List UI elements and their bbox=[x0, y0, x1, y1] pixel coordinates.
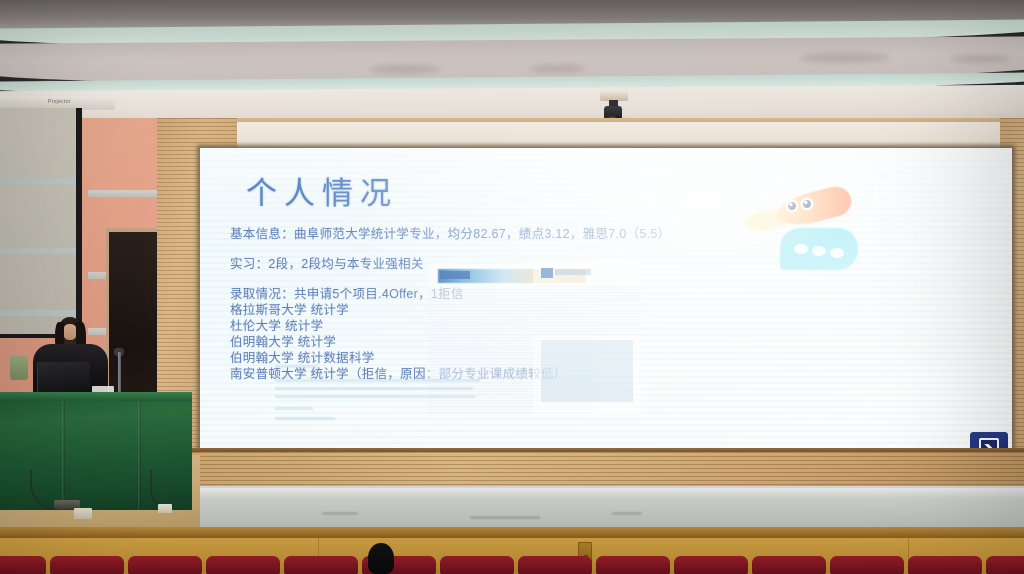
mascot-eye-icon bbox=[803, 200, 811, 208]
seat[interactable] bbox=[206, 556, 280, 574]
ceiling-stain bbox=[950, 55, 1010, 63]
presentation-slide[interactable]: 个人情况 基本信息：曲阜师范大学统计学专业，均分82.67，绩点3.12，雅思7… bbox=[200, 148, 1012, 456]
stage-floor-sheen bbox=[200, 488, 1024, 498]
secondary-projection-screen bbox=[0, 108, 76, 334]
cloth-fold bbox=[138, 401, 141, 510]
university-logo-icon bbox=[541, 268, 553, 278]
floor-box bbox=[74, 508, 92, 519]
audience-seat-row bbox=[0, 556, 1024, 574]
rocket-mascot-icon bbox=[773, 183, 854, 230]
slide-title: 个人情况 bbox=[246, 168, 398, 213]
email-line bbox=[275, 417, 335, 420]
seat[interactable] bbox=[674, 556, 748, 574]
presenter-face bbox=[63, 324, 77, 340]
stage-wall-wood-panel bbox=[150, 452, 1024, 488]
ceiling-stain bbox=[370, 65, 440, 74]
floor-box bbox=[158, 504, 172, 513]
seat[interactable] bbox=[440, 556, 514, 574]
document-banner-tag bbox=[440, 271, 470, 279]
ceiling-stain bbox=[800, 52, 890, 63]
bubble-dot-icon bbox=[830, 248, 844, 258]
email-line bbox=[275, 395, 475, 398]
slide-line-basic-info: 基本信息：曲阜师范大学统计学专业，均分82.67，绩点3.12，雅思7.0（5.… bbox=[230, 226, 700, 242]
wall-accent-band bbox=[88, 328, 108, 335]
screen-reflection bbox=[0, 178, 76, 184]
mascot-eye-icon bbox=[788, 202, 796, 210]
projector-case-label: Projector bbox=[48, 99, 71, 105]
audience-head-icon bbox=[368, 543, 394, 574]
seat[interactable] bbox=[752, 556, 826, 574]
seat[interactable] bbox=[284, 556, 358, 574]
slide-decoration bbox=[740, 184, 870, 279]
podium-table-top bbox=[0, 392, 192, 401]
email-text-screenshot bbox=[275, 363, 480, 421]
university-name-text bbox=[555, 269, 591, 275]
ceiling-stain bbox=[530, 65, 585, 73]
microphone-stand bbox=[118, 352, 121, 396]
seat[interactable] bbox=[596, 556, 670, 574]
bubble-dot-icon bbox=[812, 246, 826, 256]
floor-marking bbox=[612, 512, 642, 515]
seat[interactable] bbox=[518, 556, 592, 574]
floor-marking bbox=[322, 512, 358, 515]
document-table-block bbox=[541, 340, 633, 402]
laptop-icon bbox=[38, 362, 90, 396]
floor-cable bbox=[150, 470, 164, 506]
seat[interactable] bbox=[128, 556, 202, 574]
document-text-lines bbox=[533, 286, 641, 336]
email-line bbox=[275, 365, 317, 368]
seat[interactable] bbox=[908, 556, 982, 574]
email-line bbox=[275, 407, 313, 410]
screen-reflection bbox=[0, 248, 76, 254]
spacer bbox=[230, 242, 700, 256]
email-line bbox=[275, 379, 480, 382]
screen-reflection bbox=[0, 310, 76, 316]
lecture-hall-scene: Projector 个人情况 基本信息：曲阜师范大学统计学专业，均分82.67，… bbox=[0, 0, 1024, 574]
cloth-fold bbox=[62, 401, 65, 510]
seat[interactable] bbox=[830, 556, 904, 574]
seat[interactable] bbox=[50, 556, 124, 574]
seat[interactable] bbox=[986, 556, 1024, 574]
seat[interactable] bbox=[0, 556, 46, 574]
chair bbox=[10, 356, 28, 380]
bubble-dot-icon bbox=[794, 244, 808, 254]
floor-marking bbox=[470, 516, 540, 519]
doorway bbox=[106, 228, 162, 418]
email-line bbox=[275, 387, 473, 390]
offer-letter-screenshot-2 bbox=[533, 260, 641, 415]
